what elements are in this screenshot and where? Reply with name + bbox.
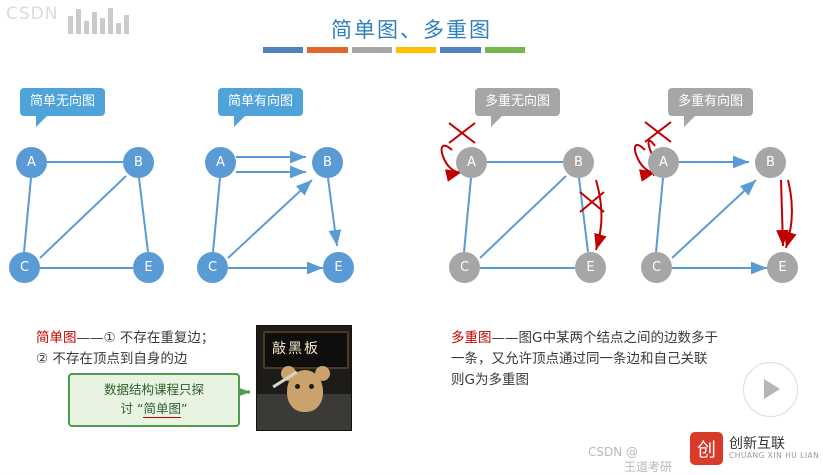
callout-tail xyxy=(684,116,695,127)
rule-seg-5 xyxy=(440,47,480,53)
node-p4-b: B xyxy=(755,147,786,178)
callout-simple-undirected: 简单无向图 xyxy=(20,88,105,116)
callout-multi-directed: 多重有向图 xyxy=(668,88,753,116)
node-p3-c: C xyxy=(449,252,480,283)
brand-name-cn: 创新互联 xyxy=(729,436,819,452)
left-term: 简单图 xyxy=(36,330,77,346)
callout-label: 简单无向图 xyxy=(30,94,95,109)
slide-canvas: CSDN 简单图、多重图 xyxy=(0,0,823,472)
right-term: 多重图 xyxy=(451,330,492,346)
node-p3-b: B xyxy=(563,147,594,178)
rule-seg-2 xyxy=(307,47,347,53)
emphasis-line-1: 数据结构课程只探 xyxy=(78,381,230,400)
emphasis-suffix: ” xyxy=(181,401,187,416)
callout-tail xyxy=(234,116,245,127)
emphasis-prefix: 讨 “ xyxy=(121,401,144,416)
node-p4-e: E xyxy=(767,252,798,283)
node-p3-a: A xyxy=(456,147,487,178)
blackboard-caption: 敲黑板 xyxy=(272,338,320,358)
watermark-bottom-text: 王道考研 xyxy=(624,458,672,475)
node-p2-e: E xyxy=(323,252,354,283)
right-line-3: 则G为多重图 xyxy=(451,372,529,388)
callout-label: 多重有向图 xyxy=(678,94,743,109)
node-p1-a: A xyxy=(16,147,47,178)
play-video-button[interactable] xyxy=(743,362,798,417)
brand-glyph-icon: 创 xyxy=(690,432,723,465)
blackboard-thumbnail: 敲黑板 xyxy=(256,325,352,431)
play-icon xyxy=(764,379,780,399)
node-p4-c: C xyxy=(641,252,672,283)
emphasis-underlined: 简单图 xyxy=(143,401,181,418)
node-p3-e: E xyxy=(575,252,606,283)
node-p1-b: B xyxy=(123,147,154,178)
watermark-csdn: CSDN @ xyxy=(588,445,638,459)
node-p2-b: B xyxy=(312,147,343,178)
node-p1-c: C xyxy=(9,252,40,283)
rule-seg-3 xyxy=(352,47,392,53)
brand-name-en: CHUANG XIN HU LIAN xyxy=(729,452,819,461)
rule-seg-1 xyxy=(263,47,303,53)
emphasis-box: 数据结构课程只探 讨 “简单图” xyxy=(68,373,240,427)
callout-label: 简单有向图 xyxy=(228,94,293,109)
mouse-eye-right-icon xyxy=(309,384,314,389)
callout-simple-directed: 简单有向图 xyxy=(218,88,303,116)
watermark-brand: 创 创新互联 CHUANG XIN HU LIAN xyxy=(690,425,823,472)
blackboard: 敲黑板 xyxy=(263,331,349,369)
rule-seg-4 xyxy=(396,47,436,53)
emphasis-line-2: 讨 “简单图” xyxy=(78,400,230,419)
node-p1-e: E xyxy=(133,252,164,283)
callout-multi-undirected: 多重无向图 xyxy=(475,88,560,116)
callout-label: 多重无向图 xyxy=(485,94,550,109)
node-p4-a: A xyxy=(648,147,679,178)
right-line-1: ——图G中某两个结点之间的边数多于 xyxy=(492,330,718,346)
callout-tail xyxy=(36,116,47,127)
callout-tail xyxy=(491,116,502,127)
node-p2-a: A xyxy=(205,147,236,178)
node-p2-c: C xyxy=(197,252,228,283)
left-line-1: ——① 不存在重复边； xyxy=(77,330,215,346)
title-rule xyxy=(263,47,525,53)
right-line-2: 一条，又允许顶点通过同一条边和自己关联 xyxy=(451,351,708,367)
mouse-eye-left-icon xyxy=(295,384,300,389)
left-definition-note: 简单图——① 不存在重复边； ② 不存在顶点到自身的边 xyxy=(36,328,251,370)
left-line-2: ② 不存在顶点到自身的边 xyxy=(36,351,187,367)
brand-text: 创新互联 CHUANG XIN HU LIAN xyxy=(729,436,819,461)
page-title: 简单图、多重图 xyxy=(0,14,823,44)
rule-seg-6 xyxy=(485,47,525,53)
